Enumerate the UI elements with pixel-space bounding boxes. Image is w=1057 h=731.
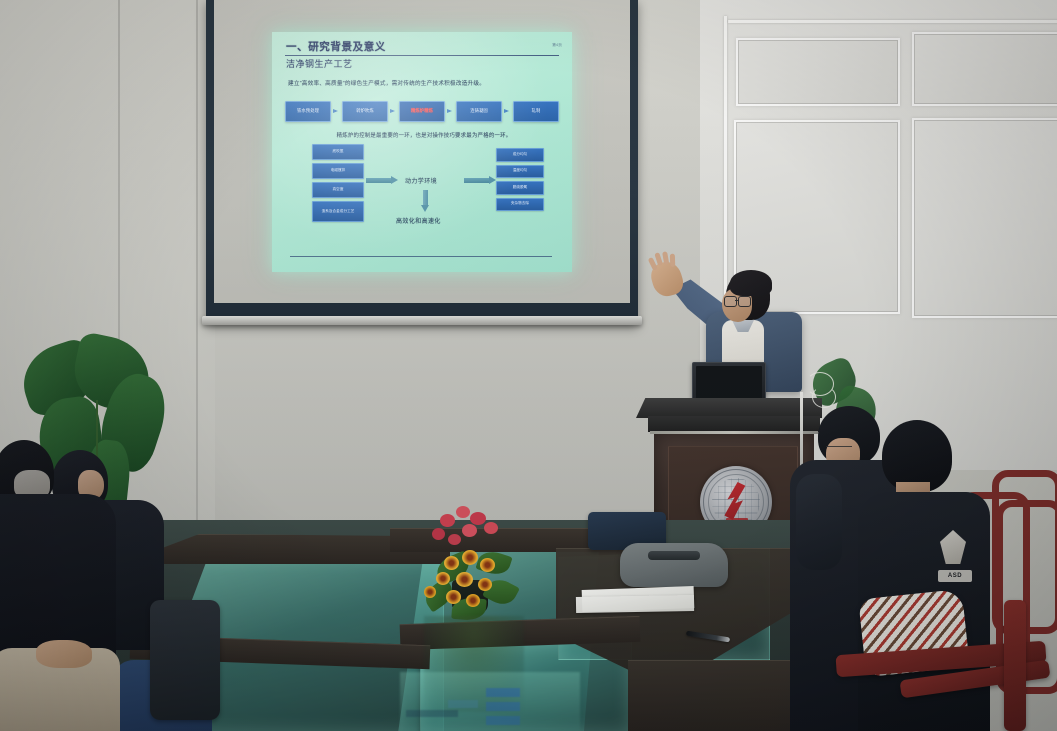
slide-note-text: 精炼炉的控制是最重要的一环，也是对操作技巧要求最为严格的一环。: [298, 131, 550, 139]
flow-step-label: 连铸凝固: [470, 109, 488, 114]
diagram-output-label: 脱硫脱氧: [513, 186, 528, 190]
flower-yellow: [446, 590, 461, 604]
backpack-strap: [648, 551, 700, 560]
diagram-output-label: 夹杂物去除: [511, 202, 529, 206]
podium-shelf: [648, 416, 820, 432]
flow-step-label: 轧制: [532, 109, 541, 114]
flower-red: [470, 512, 486, 525]
slide-title: 一、研究背景及意义: [286, 39, 386, 54]
jacket-badge: ASD: [938, 570, 972, 582]
flow-step-label: 转炉吹炼: [356, 109, 374, 114]
paper-sheet[interactable]: [576, 595, 694, 613]
flower-red: [432, 528, 445, 540]
flow-arrow-icon: [333, 108, 340, 115]
diagram-input-box: 电磁搅拌: [312, 163, 364, 179]
diagram-input-label: 真空度: [333, 188, 344, 192]
podium-top-surface: [636, 398, 822, 418]
attendee-hands: [36, 640, 92, 668]
diagram-output-box: 脱硫脱氧: [496, 181, 544, 195]
diagram-input-label: 底吹氩: [333, 150, 344, 154]
flow-step: 连铸凝固: [456, 101, 502, 122]
diagram-input-box: 底吹氩: [312, 144, 364, 160]
laptop-screen: [696, 366, 762, 400]
presentation-slide: 一、研究背景及意义 第4页 洁净钢生产工艺 建立“高效率、高质量”的绿色生产模式…: [272, 32, 572, 272]
flow-step-highlighted: 精炼炉精炼: [399, 101, 445, 122]
wall-panel: [736, 38, 900, 106]
chair[interactable]: [1004, 600, 1026, 731]
glasses-icon: [724, 296, 750, 305]
flower-yellow: [462, 550, 478, 565]
flow-arrow-icon: [504, 108, 511, 115]
diagram-inputs-column: 底吹氩 电磁搅拌 真空度 渣系及合金成分工艺: [312, 144, 364, 222]
diagram-output-label: 温度均匀: [513, 169, 528, 173]
flow-step-label: 铁水预处理: [297, 109, 319, 114]
flower-red: [462, 524, 477, 537]
diagram-input-box: 真空度: [312, 182, 364, 198]
mechanism-diagram: 底吹氩 电磁搅拌 真空度 渣系及合金成分工艺 动力学环境 高效化和高速化 成分均…: [286, 142, 558, 240]
slide-reflection-box: [486, 688, 520, 697]
slide-title-rule: [285, 55, 559, 56]
cable: [812, 386, 836, 408]
process-flow-diagram: 铁水预处理 转炉吹炼 精炼炉精炼 连铸凝固 轧制: [286, 98, 558, 124]
diagram-center-label-top: 动力学环境: [405, 176, 437, 185]
flow-step: 轧制: [513, 101, 559, 122]
presenter-hair-front: [730, 270, 772, 296]
projector-screen-rail: [202, 316, 642, 325]
diagram-center-label-bottom: 高效化和高速化: [396, 216, 441, 225]
flower-yellow: [466, 594, 480, 607]
laptop[interactable]: [692, 362, 766, 404]
diagram-outputs-column: 成分均匀 温度均匀 脱硫脱氧 夹杂物去除: [496, 148, 544, 211]
flower-red: [448, 534, 461, 545]
diagram-output-label: 成分均匀: [513, 153, 528, 157]
flow-arrow-icon: [447, 108, 454, 115]
diagram-arrow-right-icon: [366, 176, 398, 185]
flower-red: [456, 506, 470, 518]
flower-red: [440, 514, 455, 527]
diagram-input-box: 渣系及合金成分工艺: [312, 201, 364, 222]
diagram-output-box: 夹杂物去除: [496, 198, 544, 212]
wall-panel: [912, 118, 1057, 318]
chair[interactable]: [150, 600, 220, 720]
diagram-arrow-down-icon: [421, 190, 430, 212]
jacket-badge-text: ASD: [938, 570, 972, 582]
flow-step: 铁水预处理: [285, 101, 331, 122]
slide-reflection-box: [486, 716, 520, 725]
slide-reflection-box: [486, 702, 520, 711]
wall-panel: [912, 32, 1057, 106]
flower-yellow: [456, 572, 473, 587]
diagram-output-box: 成分均匀: [496, 148, 544, 162]
slide-body-text: 建立“高效率、高质量”的绿色生产模式，需对传统的生产技术积极改造升级。: [288, 81, 558, 89]
flower-yellow: [424, 586, 436, 598]
slide-reflection-arrow: [448, 700, 478, 708]
slide-page-number: 第4页: [552, 43, 562, 48]
diagram-input-label: 渣系及合金成分工艺: [322, 210, 355, 214]
diagram-output-box: 温度均匀: [496, 165, 544, 179]
diagram-input-label: 电磁搅拌: [331, 169, 346, 173]
flower-yellow: [444, 556, 459, 570]
flower-yellow: [478, 578, 492, 591]
flower-yellow: [480, 558, 495, 572]
flower-red: [484, 522, 498, 534]
gray-backpack[interactable]: [620, 543, 728, 587]
slide-reflection-text: [406, 710, 458, 717]
flow-step: 转炉吹炼: [342, 101, 388, 122]
flow-arrow-icon: [390, 108, 397, 115]
conference-room-scene: 一、研究背景及意义 第4页 洁净钢生产工艺 建立“高效率、高质量”的绿色生产模式…: [0, 0, 1057, 731]
flower-yellow: [436, 572, 450, 585]
slide-bottom-rule: [290, 256, 552, 257]
flow-step-label: 精炼炉精炼: [411, 109, 433, 114]
diagram-arrow-right-icon: [464, 176, 496, 185]
slide-subtitle: 洁净钢生产工艺: [286, 57, 353, 70]
